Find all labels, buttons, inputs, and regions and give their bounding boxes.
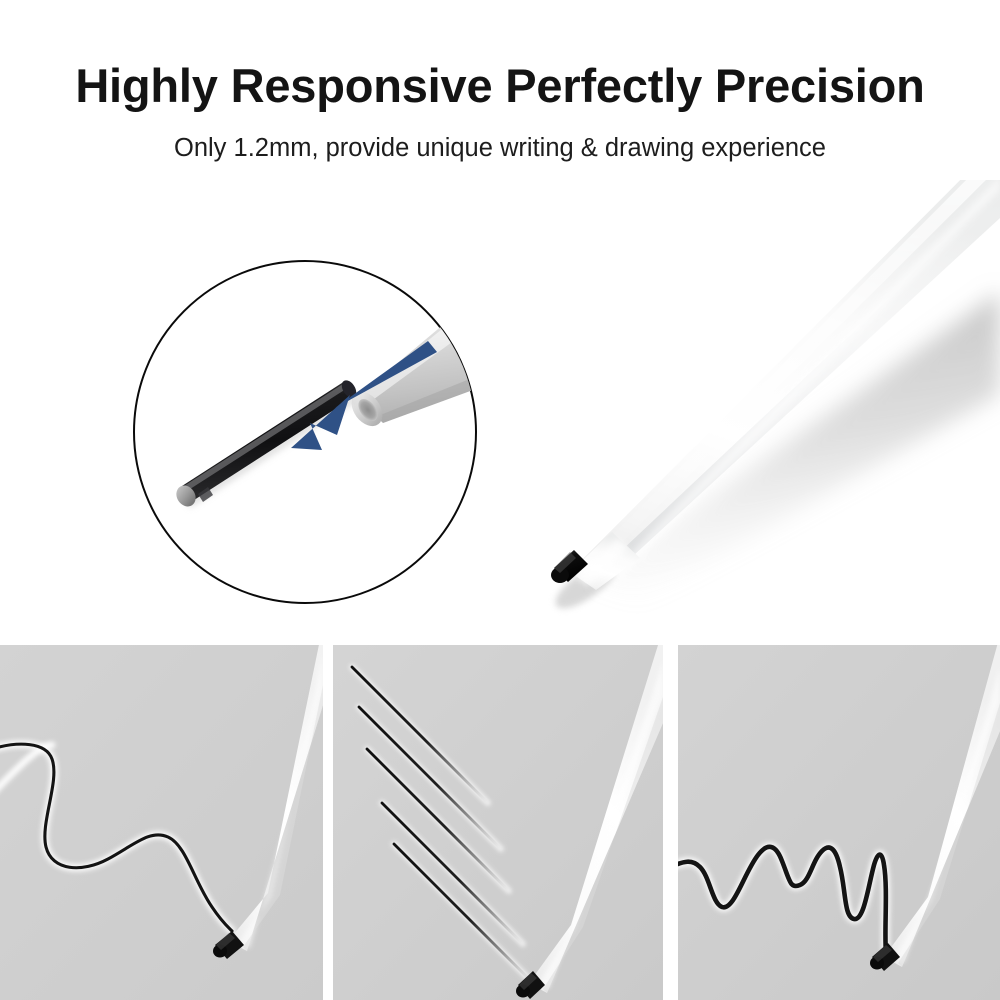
tip-replacement-detail	[134, 261, 500, 603]
page-headline: Highly Responsive Perfectly Precision	[0, 58, 1000, 113]
writing-sample-parallel-strokes	[333, 645, 663, 1000]
page-subheadline: Only 1.2mm, provide unique writing & dra…	[0, 134, 1000, 163]
writing-samples-strip	[0, 645, 1000, 1000]
writing-sample-smooth-curve	[0, 645, 323, 1000]
product-marketing-image: Highly Responsive Perfectly Precision On…	[0, 0, 1000, 1000]
writing-sample-zigzag-wave	[678, 645, 1000, 1000]
hero-product-area	[0, 180, 1000, 645]
hero-illustration	[0, 180, 1000, 645]
